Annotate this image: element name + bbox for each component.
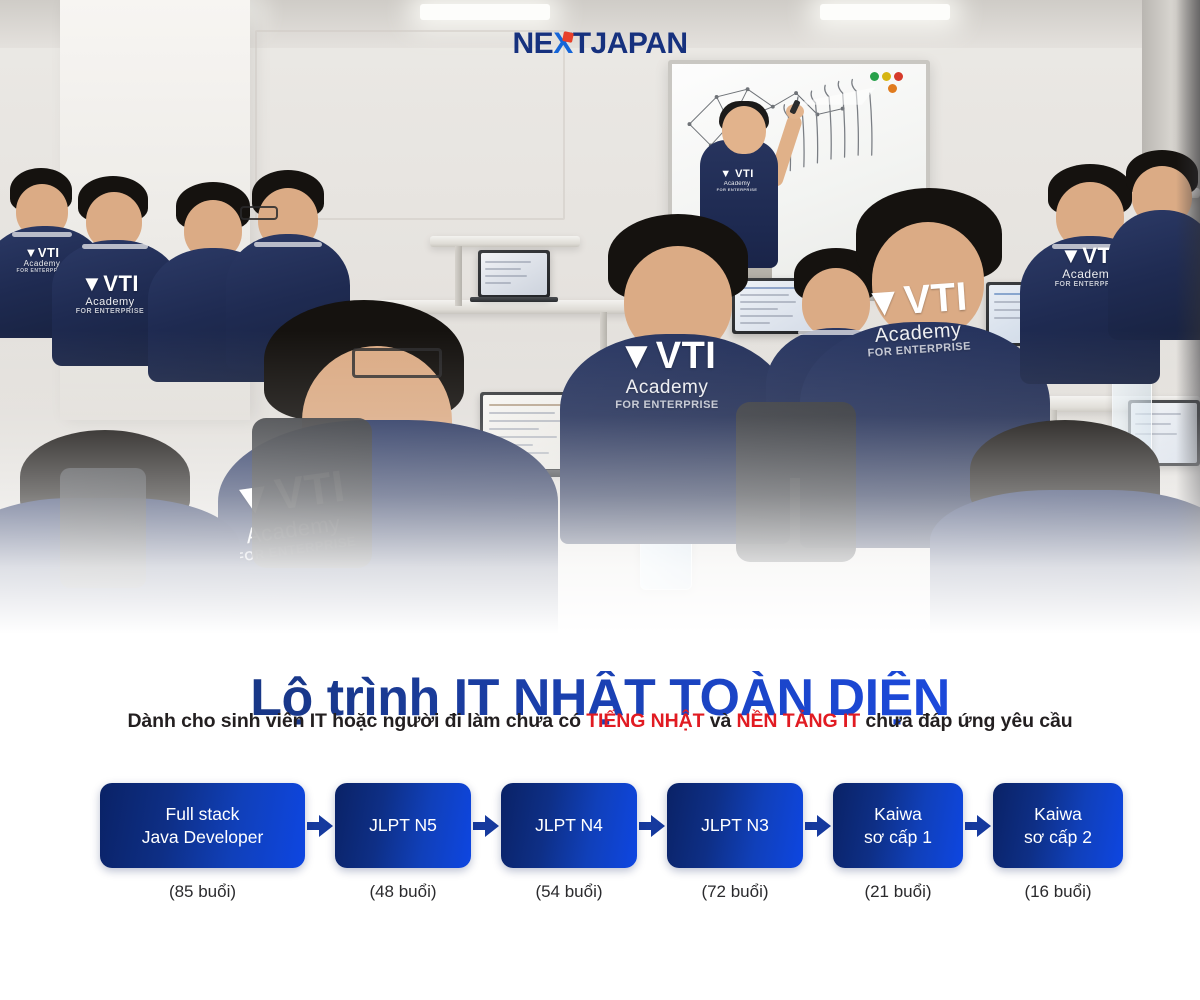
roadmap-step-box[interactable]: JLPT N3 [667,783,803,868]
roadmap-step-box[interactable]: Kaiwasơ cấp 2 [993,783,1123,868]
photo-edge-shadow [1176,0,1200,660]
desk-leg [455,246,462,306]
whiteboard-magnet-orange [888,84,897,93]
roadmap-step-label: JLPT N5 [369,814,437,836]
page-subtitle: Dành cho sinh viên IT hoặc người đi làm … [0,710,1200,733]
subtitle-part-3: chưa đáp ứng yêu cầu [860,710,1073,732]
desk [430,236,580,247]
roadmap-step-box[interactable]: Kaiwasơ cấp 1 [833,783,963,868]
whiteboard-magnet-yellow [882,72,891,81]
laptop [478,250,550,298]
roadmap-step-box[interactable]: JLPT N4 [501,783,637,868]
roadmap-arrow [305,783,335,868]
brand-text-after: TJAPAN [573,27,688,60]
roadmap-arrow [637,783,667,868]
roadmap-step-box[interactable]: JLPT N5 [335,783,471,868]
whiteboard-magnet-red [894,72,903,81]
chair [252,418,372,568]
subtitle-highlight-japanese: TIẾNG NHẬT [586,710,704,732]
roadmap-section: Full stackJava Developer(85 buổi)JLPT N5… [0,783,1200,943]
roadmap-step-caption: (85 buổi) [169,882,236,902]
classroom-photo: ▼ VTI Academy FOR ENTERPRISE [0,0,1200,660]
roadmap-step-box[interactable]: Full stackJava Developer [100,783,305,868]
roadmap-step[interactable]: Full stackJava Developer(85 buổi) [100,783,305,902]
roadmap-arrow [471,783,501,868]
roadmap-step-caption: (72 buổi) [701,882,768,902]
roadmap-step-label: Kaiwasơ cấp 1 [864,803,932,848]
brand-x-mark: X [553,27,573,61]
roadmap-step-caption: (21 buổi) [864,882,931,902]
subtitle-part-1: Dành cho sinh viên IT hoặc người đi làm … [127,710,586,732]
roadmap-step-label: JLPT N4 [535,814,603,836]
roadmap-step-caption: (16 buổi) [1024,882,1091,902]
roadmap-step-label: JLPT N3 [701,814,769,836]
uniform-logo: ▼VTI Academy FOR ENTERPRISE [572,336,762,411]
whiteboard-magnet-green [870,72,879,81]
roadmap-step[interactable]: Kaiwasơ cấp 2(16 buổi) [993,783,1123,902]
instructor-uniform-logo: ▼ VTI Academy FOR ENTERPRISE [706,168,768,192]
chair [736,402,856,562]
roadmap-step[interactable]: Kaiwasơ cấp 1(21 buổi) [833,783,963,902]
ceiling-light [420,4,550,20]
subtitle-highlight-it: NỀN TẢNG IT [737,710,860,732]
roadmap-arrow [803,783,833,868]
poster-canvas: ▼ VTI Academy FOR ENTERPRISE [0,0,1200,1000]
ceiling-light [820,4,950,20]
eyeglasses [240,206,278,220]
roadmap-step-label: Full stackJava Developer [142,803,264,848]
instructor-head [722,106,766,154]
roadmap-step[interactable]: JLPT N5(48 buổi) [335,783,471,902]
roadmap-step[interactable]: JLPT N4(54 buổi) [501,783,637,902]
brand-text-before: NE [513,27,554,60]
subtitle-part-2: và [704,710,736,732]
roadmap-step-caption: (48 buổi) [369,882,436,902]
roadmap-arrow [963,783,993,868]
roadmap-track: Full stackJava Developer(85 buổi)JLPT N5… [100,783,1123,902]
uniform-logo: ▼VTI Academy FOR ENTERPRISE [810,271,1025,364]
roadmap-step-caption: (54 buổi) [535,882,602,902]
eyeglasses [352,348,442,378]
student-foreground [930,420,1200,660]
brand-logo: NEXTJAPAN [0,27,1200,61]
roadmap-step[interactable]: JLPT N3(72 buổi) [667,783,803,902]
roadmap-step-label: Kaiwasơ cấp 2 [1024,803,1092,848]
chair [60,468,146,588]
